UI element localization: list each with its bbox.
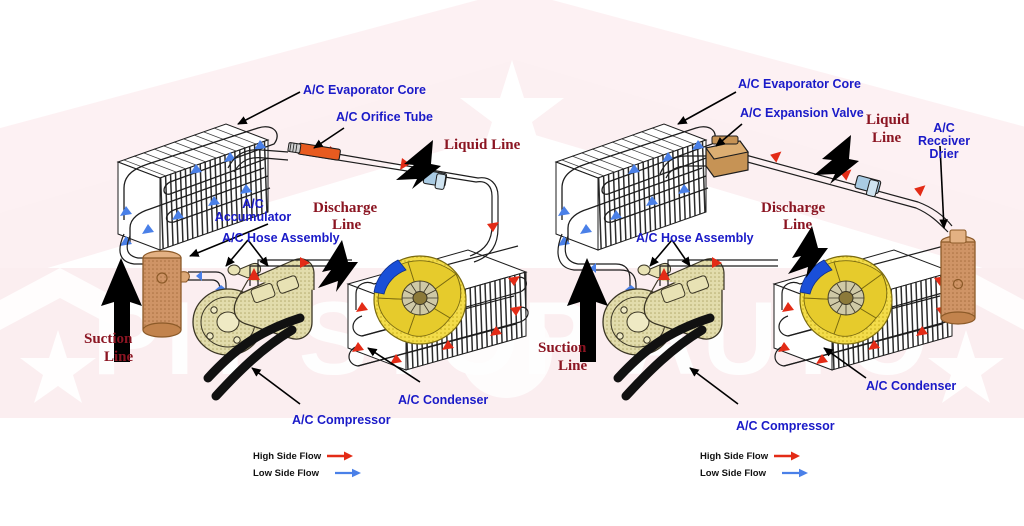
label-accumulator-left-line2: Accumulator: [208, 211, 298, 225]
high-side-arrow-discharge-right: [712, 257, 722, 268]
label-liquid-line-right-line1: Liquid: [866, 112, 909, 129]
leader-evaporator-core-right: [678, 92, 736, 124]
evaporator-tubing-left: [120, 127, 277, 246]
label-evaporator-core-right: A/C Evaporator Core: [738, 78, 861, 92]
label-receiver-drier-right-line3: Drier: [909, 148, 979, 162]
high-side-arrows-liquid-right: [769, 149, 926, 197]
label-suction-line-left-line2: Line: [104, 349, 133, 366]
evaporator-tubing-right: [558, 127, 715, 246]
arrow-right-red-icon: [327, 448, 353, 466]
legend-item-low-side-left: Low Side Flow: [253, 465, 361, 482]
arrow-right-blue-icon: [782, 465, 808, 483]
block-arrow-discharge-line-right: [788, 226, 828, 278]
diagram-artwork: [0, 0, 1024, 526]
high-side-arrow-compressor-out-right: [658, 268, 670, 280]
leader-orifice-tube-left: [314, 128, 344, 148]
legend-label-low-side-left: Low Side Flow: [253, 468, 319, 479]
legend-right: High Side Flow Low Side Flow: [700, 448, 808, 482]
label-suction-line-left-line1: Suction: [84, 331, 132, 348]
high-side-arrow-discharge-left: [300, 257, 310, 268]
label-orifice-tube-left: A/C Orifice Tube: [336, 111, 433, 125]
high-side-arrow-compressor-out-left: [248, 268, 260, 280]
label-suction-line-right-line1: Suction: [538, 340, 586, 357]
evap-inlet-hose-right: [660, 156, 706, 178]
block-arrow-liquid-line-right: [814, 135, 859, 184]
block-arrow-liquid-line-left: [396, 140, 441, 189]
arrow-right-blue-icon: [335, 465, 361, 483]
liquid-line-right: [740, 154, 952, 232]
label-condenser-left: A/C Condenser: [398, 394, 488, 408]
leader-evaporator-core-left: [238, 92, 300, 124]
label-liquid-line-left: Liquid Line: [444, 137, 520, 154]
label-compressor-right: A/C Compressor: [736, 420, 835, 434]
label-discharge-line-left-line2: Line: [332, 217, 361, 234]
label-discharge-line-right-line1: Discharge: [761, 200, 825, 217]
legend-label-low-side-right: Low Side Flow: [700, 468, 766, 479]
label-evaporator-core-left: A/C Evaporator Core: [303, 84, 426, 98]
label-expansion-valve-right: A/C Expansion Valve: [740, 107, 864, 121]
legend-left: High Side Flow Low Side Flow: [253, 448, 361, 482]
label-condenser-right: A/C Condenser: [866, 380, 956, 394]
legend-item-low-side-right: Low Side Flow: [700, 465, 808, 482]
label-discharge-line-right-line2: Line: [783, 217, 812, 234]
line-coupling-right: [855, 175, 882, 197]
line-coupling-left: [423, 170, 447, 189]
label-compressor-left: A/C Compressor: [292, 414, 391, 428]
label-suction-line-right-line2: Line: [558, 358, 587, 375]
legend-item-high-side-right: High Side Flow: [700, 448, 808, 465]
legend-item-high-side-left: High Side Flow: [253, 448, 361, 465]
label-discharge-line-left-line1: Discharge: [313, 200, 377, 217]
ac-system-diagram: PIT STOP AUTO: [0, 0, 1024, 526]
leader-expansion-valve-right: [716, 124, 742, 146]
legend-label-high-side-left: High Side Flow: [253, 451, 321, 462]
expansion-valve-right: [706, 136, 748, 177]
label-liquid-line-right-line2: Line: [872, 130, 901, 147]
suction-hose-left: [120, 234, 156, 264]
label-hose-assembly-right: A/C Hose Assembly: [636, 232, 754, 246]
watermark-stars-layer: [0, 0, 1024, 526]
condenser-to-drier-right: [944, 242, 960, 268]
label-hose-assembly-left: A/C Hose Assembly: [222, 232, 340, 246]
legend-label-high-side-right: High Side Flow: [700, 451, 768, 462]
arrow-right-red-icon: [774, 448, 800, 466]
orifice-tube-left: [288, 141, 341, 160]
evap-inlet-hose-left: [228, 150, 288, 172]
